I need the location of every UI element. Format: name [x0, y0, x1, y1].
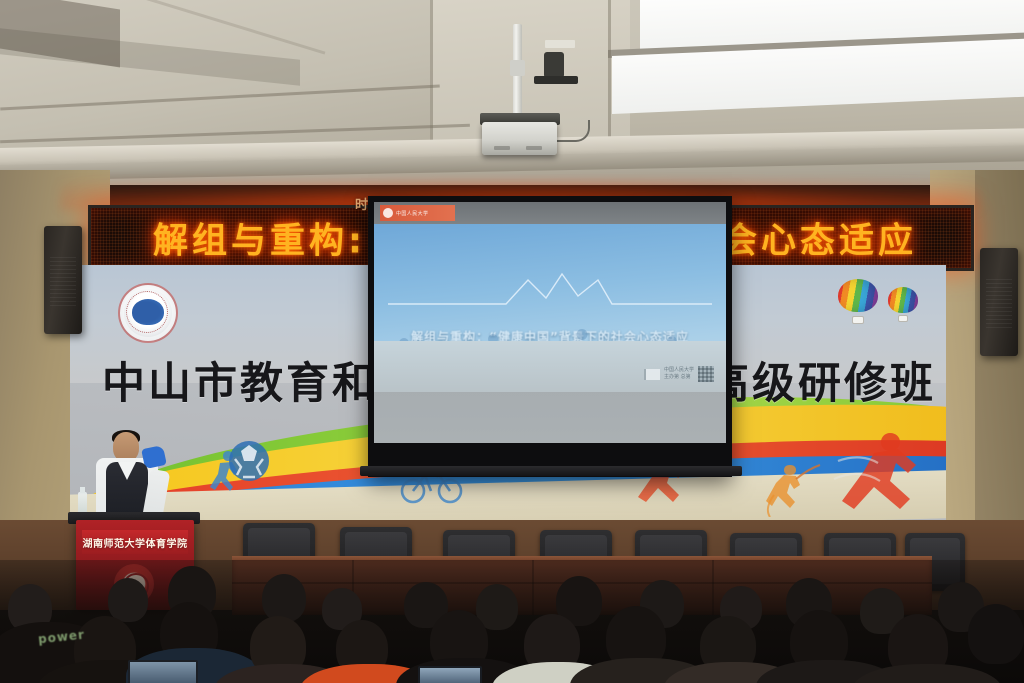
led-banner-text-left: 解组与重构:	[153, 213, 366, 264]
ceiling-camera-body	[544, 52, 564, 78]
wall-speaker-right	[980, 248, 1018, 356]
audience-head	[968, 604, 1024, 664]
projector-pole-collar	[510, 60, 525, 76]
golfer-silhouette-icon	[760, 455, 824, 517]
institution-emblem-ring	[126, 291, 168, 333]
slide-body: 解组与重构：“健康中国”背景下的社会心态适应 ——基于CGSS数据与的分析	[374, 224, 726, 392]
open-book-icon	[644, 369, 660, 380]
audience-laptop-screen	[128, 660, 198, 683]
slide-footer-logo: 中国人民大学 主办第 总第	[644, 366, 714, 382]
podium-banner-text: 湖南师范大学体育学院	[83, 535, 188, 550]
podium-banner: 湖南师范大学体育学院	[82, 530, 188, 554]
slide-footer-text: 中国人民大学 主办第 总第	[664, 367, 694, 382]
qr-code-icon	[698, 366, 714, 382]
sprinter-silhouette-icon	[832, 427, 932, 513]
soccer-ball-icon	[225, 437, 273, 485]
slide-university-logo: 中国人民大学	[380, 205, 455, 221]
slide-footer-band: 中国人民大学 主办第 总第	[374, 341, 726, 392]
hot-air-balloon-icon-2	[888, 287, 918, 321]
backdrop-title-left: 中山市教育和	[102, 349, 378, 411]
lecture-hall-photo: 解组与重构: 社会心态适应	[0, 0, 1024, 683]
slide-mountain-decoration	[388, 270, 712, 310]
projector-body	[482, 122, 557, 155]
ceiling	[0, 0, 1024, 185]
ceiling-seam-vertical-2	[608, 0, 611, 150]
hot-air-balloon-icon-1	[838, 279, 878, 323]
wall-speaker-left	[44, 226, 82, 334]
ceiling-seam-vertical-1	[430, 0, 433, 150]
projection-screen-bottom-bar	[360, 466, 742, 476]
audience-laptop-screen	[418, 666, 482, 683]
audience-head	[262, 574, 306, 622]
slide-logo-text: 中国人民大学	[396, 210, 428, 217]
presentation-slide: 中国人民大学 解组与重构：“健康中国”背景下的社会心态适应 ——基于CGSS数据…	[374, 202, 726, 443]
slide-logo-mark-icon	[383, 208, 393, 218]
projection-screen: 中国人民大学 解组与重构：“健康中国”背景下的社会心态适应 ——基于CGSS数据…	[368, 196, 732, 477]
ceiling-camera-arm	[534, 76, 578, 84]
ceiling-camera-tab	[545, 40, 575, 48]
audience-head	[108, 578, 148, 622]
